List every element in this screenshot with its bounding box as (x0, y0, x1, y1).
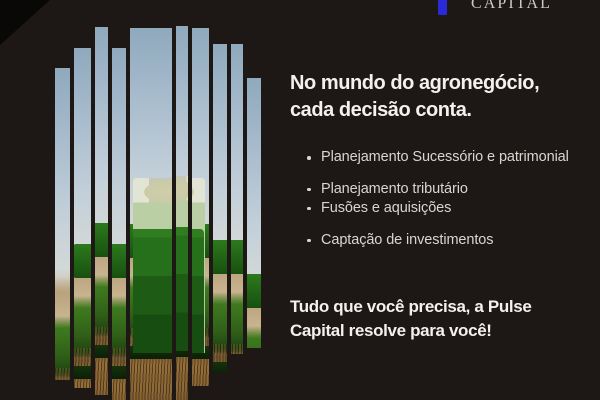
photo-strip (176, 26, 188, 400)
photo-strip (213, 44, 227, 372)
list-item: Fusões e aquisições (304, 199, 582, 218)
photo-strip (130, 28, 172, 400)
promotional-slide: CAPITAL (0, 0, 600, 400)
text-column: No mundo do agronegócio, cada decisão co… (290, 0, 585, 400)
list-item: Planejamento Sucessório e patrimonial (304, 148, 582, 167)
photo-strip (55, 68, 70, 380)
list-item: Captação de investimentos (304, 231, 582, 250)
services-list: Planejamento Sucessório e patrimonial Pl… (304, 148, 582, 249)
harvester-photo-collage (55, 0, 280, 400)
page-title: No mundo do agronegócio, cada decisão co… (290, 70, 580, 123)
photo-strip (112, 48, 126, 400)
call-to-action-text: Tudo que você precisa, a Pulse Capital r… (290, 295, 582, 343)
photo-strip (95, 27, 108, 395)
photo-strip (74, 48, 91, 388)
list-item: Planejamento tributário (304, 180, 582, 199)
photo-strip (192, 28, 209, 386)
photo-strip (247, 78, 261, 348)
photo-strip (231, 44, 243, 354)
